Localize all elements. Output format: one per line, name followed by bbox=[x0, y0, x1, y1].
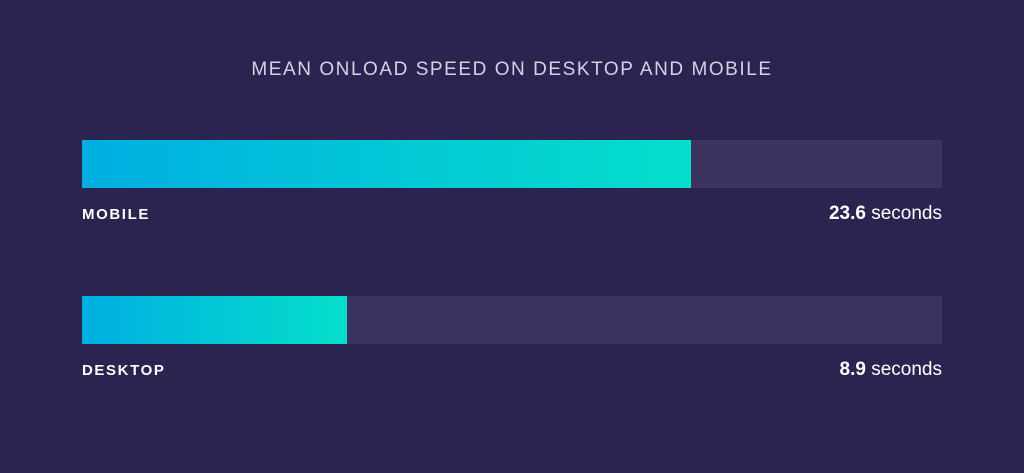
bar-value-number-desktop: 8.9 bbox=[840, 359, 866, 380]
bar-value-unit-mobile: seconds bbox=[871, 203, 942, 224]
chart-canvas: MEAN ONLOAD SPEED ON DESKTOP AND MOBILE … bbox=[0, 0, 1024, 473]
bar-fill-desktop bbox=[82, 296, 347, 344]
bar-label-mobile: MOBILE bbox=[82, 205, 150, 225]
bar-value-mobile: 23.6 seconds bbox=[829, 201, 942, 227]
bar-label-desktop: DESKTOP bbox=[82, 361, 165, 381]
bar-fill-mobile bbox=[82, 140, 691, 188]
bar-value-unit-desktop: seconds bbox=[871, 359, 942, 380]
bar-group-desktop: DESKTOP 8.9 seconds bbox=[82, 296, 942, 391]
bar-value-number-mobile: 23.6 bbox=[829, 203, 866, 224]
chart-title: MEAN ONLOAD SPEED ON DESKTOP AND MOBILE bbox=[0, 58, 1024, 82]
bar-caption-mobile: MOBILE 23.6 seconds bbox=[82, 205, 942, 235]
bar-track-mobile bbox=[82, 140, 942, 188]
bar-group-mobile: MOBILE 23.6 seconds bbox=[82, 140, 942, 235]
bar-value-desktop: 8.9 seconds bbox=[840, 357, 942, 383]
bar-caption-desktop: DESKTOP 8.9 seconds bbox=[82, 361, 942, 391]
bar-track-desktop bbox=[82, 296, 942, 344]
